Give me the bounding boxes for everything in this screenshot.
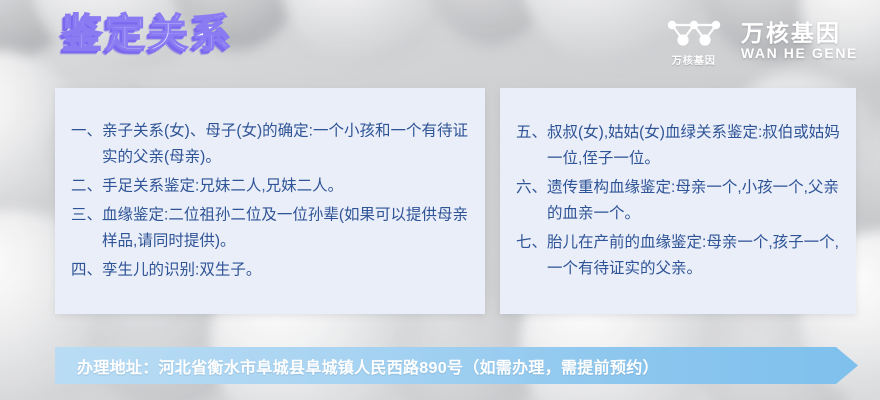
logo-mark-caption: 万核基因 [672,52,716,67]
page-title: 鉴定关系 [62,14,234,54]
address-text: 办理地址：河北省衡水市阜城县阜城镇人民西路890号（如需办理，需提前预约） [55,354,659,378]
list-item-number: 二、 [71,174,102,200]
info-panel-right: 五、 叔叔(女),姑姑(女)血绿关系鉴定:叔伯或姑妈一位,侄子一位。 六、 遗传… [500,88,856,314]
list-item: 二、 手足关系鉴定:兄妹二人,兄妹二人。 [71,174,471,200]
info-panel-left: 一、 亲子关系(女)、母子(女)的确定:一个小孩和一个有待证实的父亲(母亲)。 … [55,88,485,314]
list-item: 五、 叔叔(女),姑姑(女)血绿关系鉴定:叔伯或姑妈一位,侄子一位。 [516,120,842,172]
list-item-number: 三、 [71,203,102,255]
address-banner: 办理地址：河北省衡水市阜城县阜城镇人民西路890号（如需办理，需提前预约） [55,347,858,384]
list-item-number: 一、 [71,119,102,171]
brand-name-cn: 万核基因 [741,21,858,45]
address-banner-shape: 办理地址：河北省衡水市阜城县阜城镇人民西路890号（如需办理，需提前预约） [55,347,858,384]
list-item-number: 五、 [516,120,547,172]
brand-name-en: WAN HE GENE [741,46,858,61]
brand-logo: 万核基因 万核基因 WAN HE GENE [663,16,858,67]
list-item-number: 六、 [516,175,547,227]
list-item: 四、 孪生儿的识别:双生子。 [71,258,471,284]
molecule-node-icon: 万核基因 [663,16,725,67]
list-item-text: 血缘鉴定:二位祖孙二位及一位孙辈(如果可以提供母亲样品,请同时提供)。 [102,203,471,255]
list-item-text: 亲子关系(女)、母子(女)的确定:一个小孩和一个有待证实的父亲(母亲)。 [102,119,471,171]
list-item-number: 七、 [516,230,547,282]
list-item-text: 胎儿在产前的血缘鉴定:母亲一个,孩子一个,一个有待证实的父亲。 [547,230,842,282]
list-item-text: 叔叔(女),姑姑(女)血绿关系鉴定:叔伯或姑妈一位,侄子一位。 [547,120,842,172]
list-item: 六、 遗传重构血缘鉴定:母亲一个,小孩一个,父亲的血亲一个。 [516,175,842,227]
list-item: 七、 胎儿在产前的血缘鉴定:母亲一个,孩子一个,一个有待证实的父亲。 [516,230,842,282]
info-list-left: 一、 亲子关系(女)、母子(女)的确定:一个小孩和一个有待证实的父亲(母亲)。 … [55,119,485,284]
brand-wordmark: 万核基因 WAN HE GENE [741,21,858,62]
list-item: 三、 血缘鉴定:二位祖孙二位及一位孙辈(如果可以提供母亲样品,请同时提供)。 [71,203,471,255]
list-item-text: 孪生儿的识别:双生子。 [102,258,471,284]
info-list-right: 五、 叔叔(女),姑姑(女)血绿关系鉴定:叔伯或姑妈一位,侄子一位。 六、 遗传… [500,120,856,282]
list-item: 一、 亲子关系(女)、母子(女)的确定:一个小孩和一个有待证实的父亲(母亲)。 [71,119,471,171]
list-item-number: 四、 [71,258,102,284]
slide-canvas: 鉴定关系 万核基因 [0,0,880,400]
list-item-text: 手足关系鉴定:兄妹二人,兄妹二人。 [102,174,471,200]
list-item-text: 遗传重构血缘鉴定:母亲一个,小孩一个,父亲的血亲一个。 [547,175,842,227]
